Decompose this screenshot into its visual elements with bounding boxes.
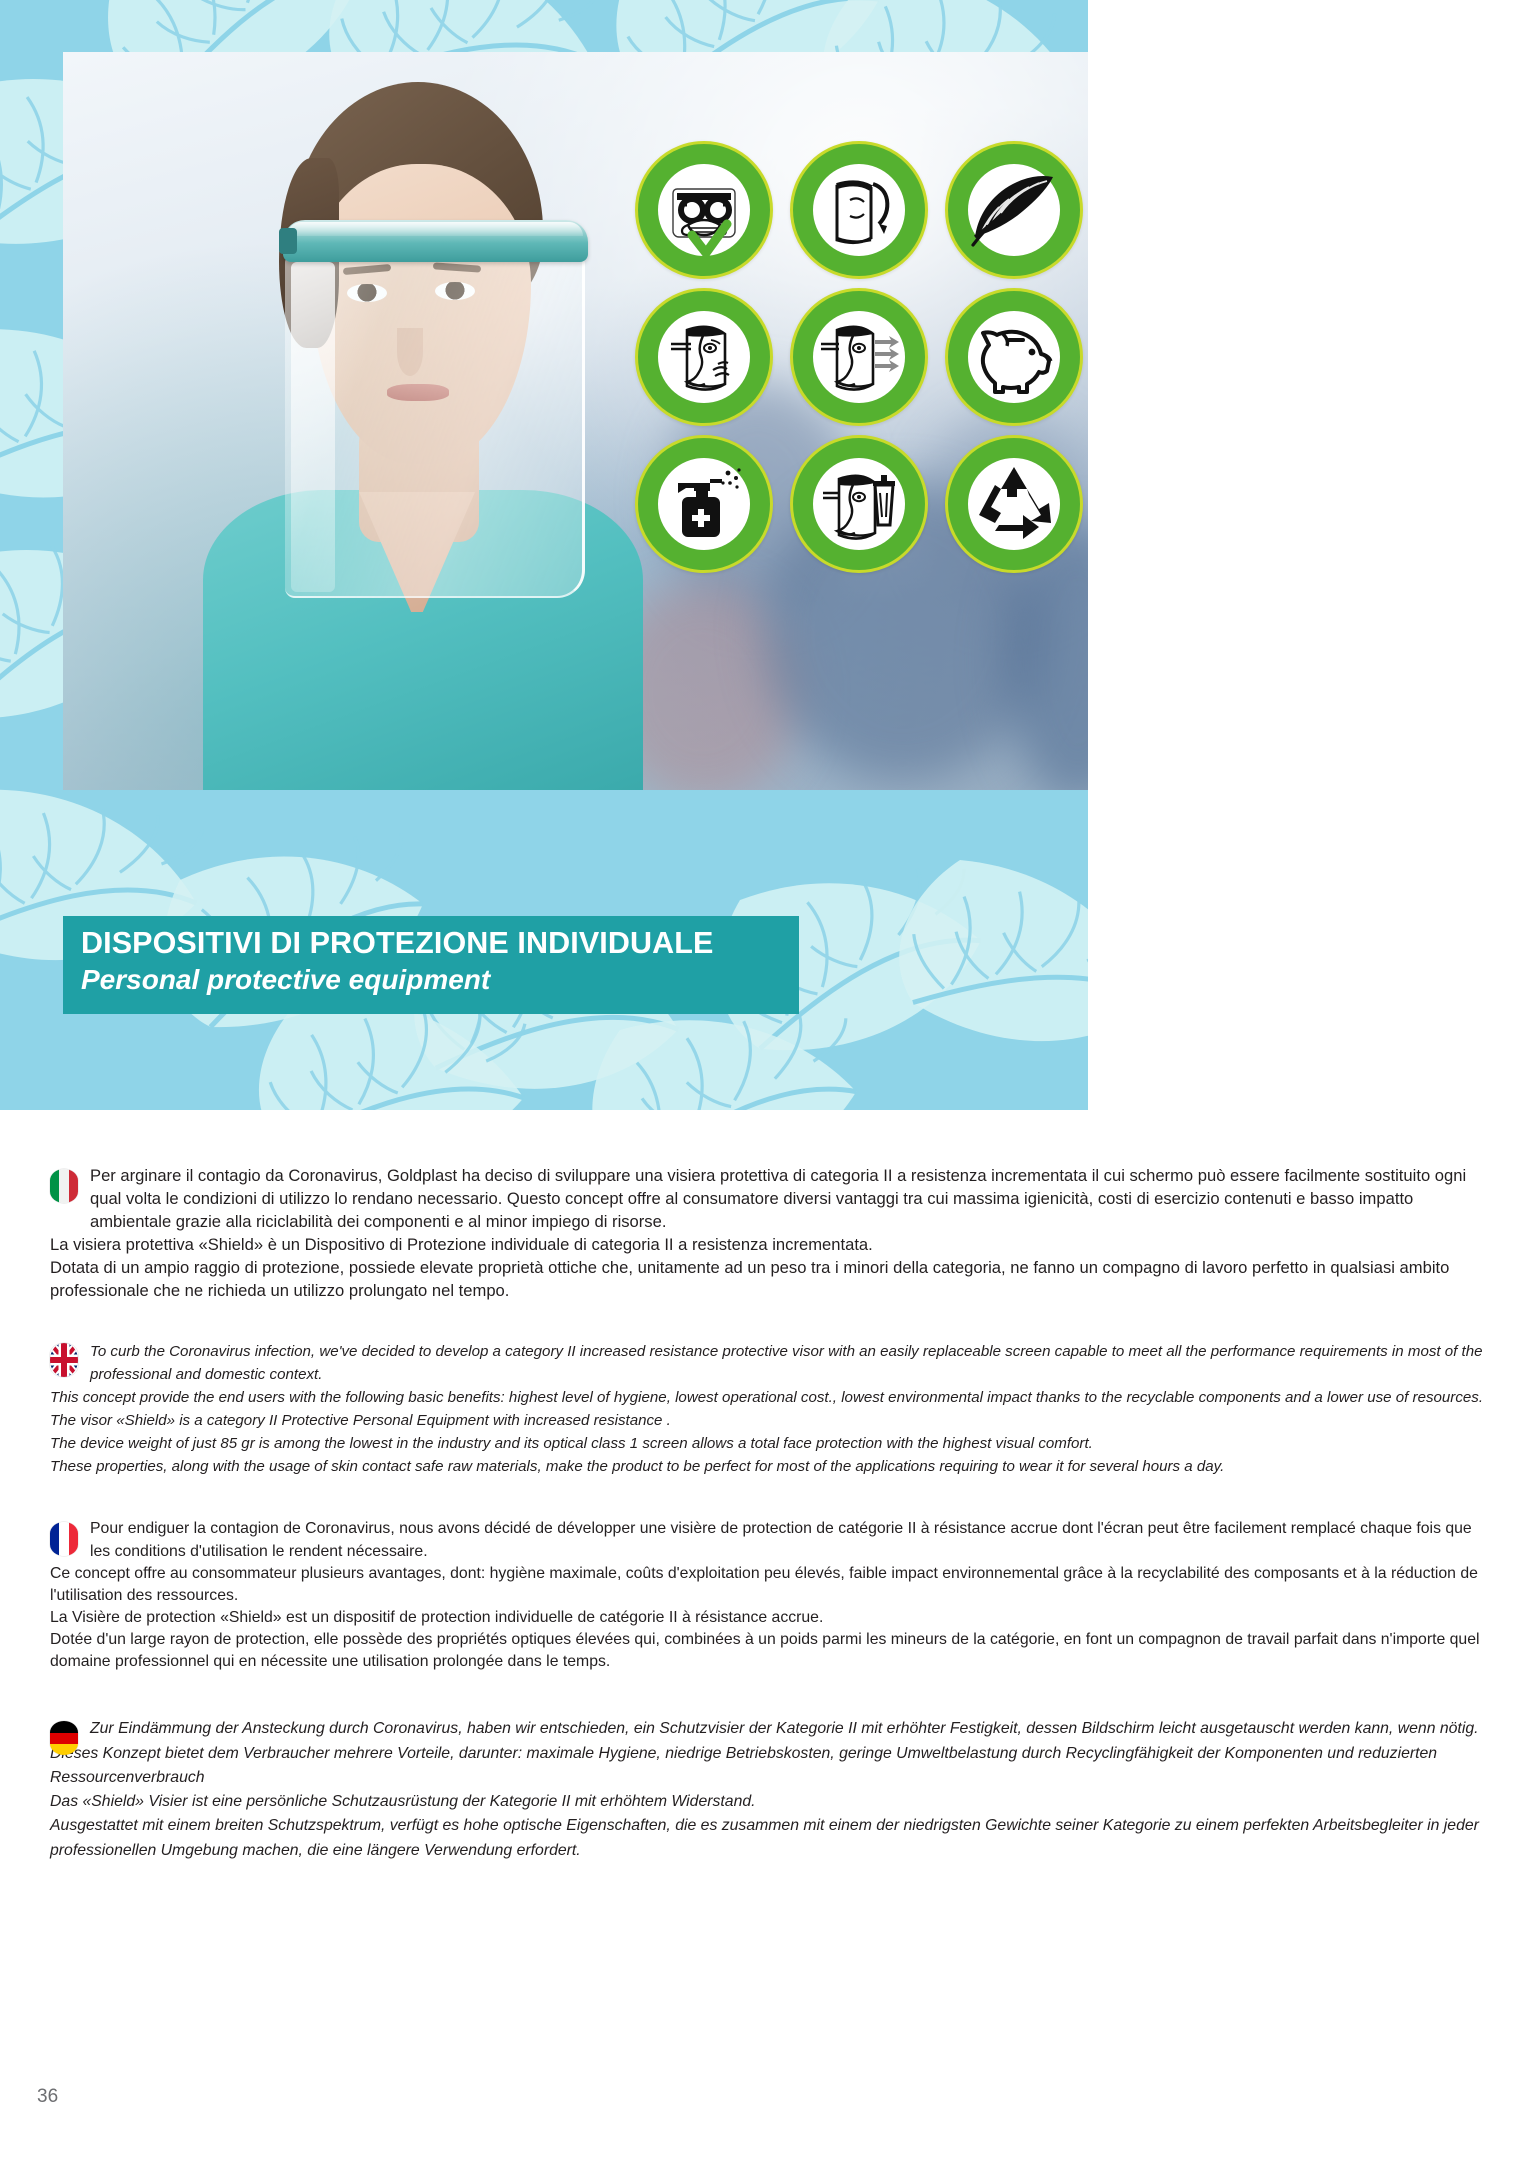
face-shield-headband-highlight [287, 222, 583, 236]
german-flag-icon [50, 1721, 78, 1755]
french-paragraph-2: Ce concept offre au consommateur plusieu… [50, 1563, 1484, 1607]
icon-cell-6 [936, 283, 1088, 430]
section-title-italian: DISPOSITIVI DI PROTEZIONE INDIVIDUALE [81, 926, 799, 961]
multilingual-description: Per arginare il contagio da Coronavirus,… [0, 1165, 1529, 1889]
union-jack-flag-icon [50, 1343, 78, 1377]
icon-cell-1 [626, 136, 781, 283]
english-paragraph-4: The device weight of just 85 gr is among… [50, 1433, 1484, 1456]
french-paragraphs: Pour endiguer la contagion de Coronaviru… [50, 1518, 1484, 1673]
icon-cell-8 [781, 430, 936, 577]
english-paragraph-5: These properties, along with the usage o… [50, 1456, 1484, 1479]
german-paragraph-4: Ausgestattet mit einem breiten Schutzspe… [50, 1814, 1484, 1863]
section-title-english: Personal protective equipment [81, 963, 799, 997]
language-block-italian: Per arginare il contagio da Coronavirus,… [0, 1165, 1529, 1303]
page-number: 36 [37, 2086, 58, 2108]
language-block-english: To curb the Coronavirus infection, we've… [0, 1341, 1529, 1479]
italian-paragraph-2: La visiera protettiva «Shield» è un Disp… [50, 1234, 1484, 1257]
catalog-page: DISPOSITIVI DI PROTEZIONE INDIVIDUALE Pe… [0, 0, 1529, 2160]
feature-icon-grid [626, 136, 1088, 576]
english-paragraphs: To curb the Coronavirus infection, we've… [50, 1341, 1484, 1479]
english-paragraph-1: To curb the Coronavirus infection, we've… [50, 1341, 1484, 1387]
face-shield-gloss [291, 262, 335, 592]
feather-lightweight-icon [945, 141, 1083, 279]
face-shield-over-glasses-and-mask-icon [635, 141, 773, 279]
icon-cell-4 [626, 283, 781, 430]
icon-cell-3 [936, 136, 1088, 283]
french-flag-icon [50, 1522, 78, 1556]
face-shield-clip [279, 228, 297, 254]
german-paragraph-2: Dieses Konzept bietet dem Verbraucher me… [50, 1742, 1484, 1791]
english-paragraph-3: The visor «Shield» is a category II Prot… [50, 1410, 1484, 1433]
german-paragraph-1: Zur Eindämmung der Ansteckung durch Coro… [50, 1717, 1484, 1741]
droplet-splash-protection-icon [635, 288, 773, 426]
language-block-german: Zur Eindämmung der Ansteckung durch Coro… [0, 1717, 1529, 1863]
section-title-bar: DISPOSITIVI DI PROTEZIONE INDIVIDUALE Pe… [63, 916, 799, 1014]
italian-paragraph-3: Dotata di un ampio raggio di protezione,… [50, 1257, 1484, 1303]
spray-disinfection-icon [635, 435, 773, 573]
english-paragraph-2: This concept provide the end users with … [50, 1387, 1484, 1410]
replaceable-screen-icon [790, 141, 928, 279]
italian-flag-icon [50, 1169, 78, 1203]
icon-cell-5 [781, 283, 936, 430]
language-block-french: Pour endiguer la contagion de Coronaviru… [0, 1518, 1529, 1673]
recycling-icon [945, 435, 1083, 573]
disposal-bin-icon [790, 435, 928, 573]
icon-cell-9 [936, 430, 1088, 577]
italian-paragraphs: Per arginare il contagio da Coronavirus,… [50, 1165, 1484, 1303]
airflow-ventilation-icon [790, 288, 928, 426]
french-paragraph-1: Pour endiguer la contagion de Coronaviru… [50, 1518, 1484, 1562]
french-paragraph-4: Dotée d'un large rayon de protection, el… [50, 1629, 1484, 1673]
italian-paragraph-1: Per arginare il contagio da Coronavirus,… [50, 1165, 1484, 1234]
hero-photo [63, 52, 1088, 790]
icon-cell-7 [626, 430, 781, 577]
german-paragraphs: Zur Eindämmung der Ansteckung durch Coro… [50, 1717, 1484, 1863]
german-paragraph-3: Das «Shield» Visier ist eine persönliche… [50, 1790, 1484, 1814]
icon-cell-2 [781, 136, 936, 283]
nurse-figure [183, 72, 653, 790]
piggy-bank-low-cost-icon [945, 288, 1083, 426]
french-paragraph-3: La Visière de protection «Shield» est un… [50, 1607, 1484, 1629]
